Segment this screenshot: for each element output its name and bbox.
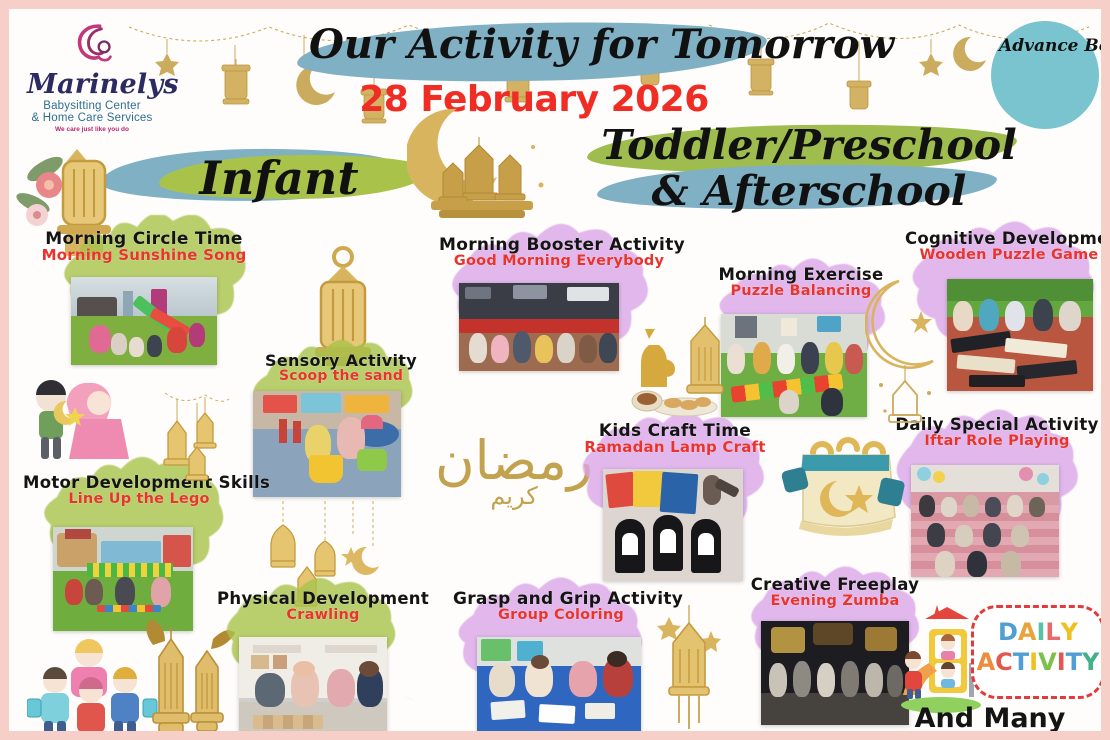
section-title-infant: Infant [129, 151, 429, 205]
activity-title: Sensory Activity [251, 353, 431, 369]
mother-and-child-logo-icon [69, 23, 123, 69]
hanging-lanterns-midleft-decor [161, 387, 231, 517]
activity-title: Morning Exercise [711, 267, 891, 284]
activity-subtitle: Puzzle Balancing [711, 284, 891, 299]
activity-photo-toddler-6 [477, 637, 641, 731]
activity-subtitle: Good Morning Everybody [439, 254, 679, 269]
activity-caption-toddler-2: Morning Exercise Puzzle Balancing [711, 267, 891, 299]
activity-photo-toddler-4 [603, 469, 743, 581]
activity-title: Cognitive Development [905, 231, 1101, 248]
activity-photo-infant-2 [253, 391, 401, 497]
activity-subtitle: Morning Sunshine Song [39, 248, 249, 263]
activity-caption-infant-1: Morning Circle Time Morning Sunshine Son… [39, 231, 249, 264]
activity-title: Grasp and Grip Activity [453, 591, 669, 608]
mosque-lantern-center-decor [407, 101, 557, 231]
gold-moon-small-decor [339, 525, 381, 579]
advance-booking-badge: Advance Booking Required! [991, 21, 1099, 129]
logo-tagline: We care just like you do [27, 126, 157, 133]
activity-subtitle: Iftar Role Playing [893, 434, 1101, 449]
activity-subtitle: Scoop the sand [251, 369, 431, 383]
muslim-kids-clipart-decor [17, 377, 147, 467]
activity-subtitle: Group Coloring [453, 608, 669, 623]
activity-caption-toddler-1: Morning Booster Activity Good Morning Ev… [439, 237, 679, 269]
activity-subtitle: Ramadan Lamp Craft [579, 440, 771, 455]
and-many-more-text: And Many More... [877, 703, 1101, 731]
daily-activity-badge-line1: DAILY [974, 618, 1101, 646]
moon-lantern-midright-decor [865, 277, 945, 427]
section-title-toddler-line1: Toddler/Preschool [589, 121, 1029, 169]
brand-logo: Marinelys Babysitting Center & Home Care… [27, 23, 157, 123]
ramadan-calendar-clipart-decor [779, 429, 905, 549]
daily-activity-badge-line2: ACTIVITY [974, 648, 1101, 676]
daily-activity-badge: DAILY ACTIVITY [971, 605, 1101, 699]
logo-subtitle-2: & Home Care Services [27, 112, 157, 124]
activity-photo-infant-1 [71, 277, 217, 365]
logo-wordmark: Marinelys [27, 69, 157, 100]
activity-subtitle: Wooden Puzzle Game [905, 248, 1101, 263]
activity-photo-toddler-1 [459, 283, 619, 371]
logo-subtitle-1: Babysitting Center [27, 100, 157, 112]
activity-title: Morning Booster Activity [439, 237, 679, 254]
section-title-toddler-line2: & Afterschool [589, 167, 1029, 215]
activity-caption-toddler-3: Cognitive Development Wooden Puzzle Game [905, 231, 1101, 263]
activity-caption-toddler-6: Grasp and Grip Activity Group Coloring [453, 591, 669, 623]
activity-caption-toddler-4: Kids Craft Time Ramadan Lamp Craft [579, 423, 771, 456]
iftar-food-clipart-decor [629, 315, 745, 425]
page-title: Our Activity for Tomorrow [309, 21, 759, 68]
poster-canvas: Marinelys Babysitting Center & Home Care… [9, 9, 1101, 731]
activity-caption-infant-2: Sensory Activity Scoop the sand [251, 353, 431, 384]
activity-title: Creative Freeplay [745, 577, 925, 594]
activity-photo-infant-4 [239, 637, 387, 731]
activity-photo-infant-3 [53, 527, 193, 631]
activity-photo-toddler-3 [947, 279, 1093, 391]
advance-booking-badge-label: Advance Booking Required! [999, 37, 1091, 56]
hanging-lantern-tassel-decor [649, 605, 729, 731]
